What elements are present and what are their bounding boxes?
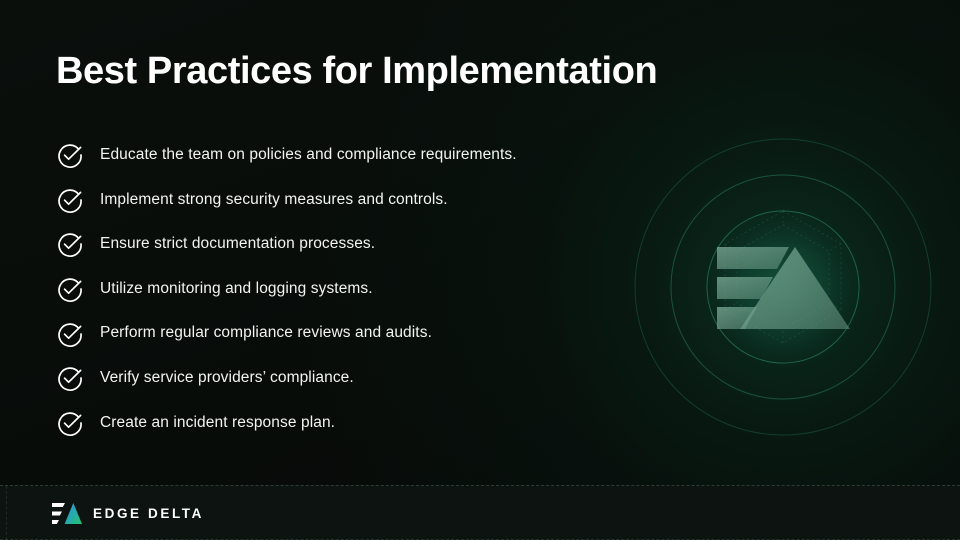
list-item: Educate the team on policies and complia… <box>56 133 656 178</box>
brand-name-label: EDGE DELTA <box>93 506 204 521</box>
footer-left-rule <box>6 486 7 540</box>
check-circle-icon <box>56 275 84 303</box>
list-item-label: Implement strong security measures and c… <box>100 191 448 210</box>
list-item-label: Create an incident response plan. <box>100 414 335 433</box>
list-item-label: Utilize monitoring and logging systems. <box>100 280 373 299</box>
list-item: Utilize monitoring and logging systems. <box>56 267 656 312</box>
check-circle-icon <box>56 409 84 437</box>
check-circle-icon <box>56 186 84 214</box>
list-item: Implement strong security measures and c… <box>56 178 656 223</box>
edge-delta-logo-mark-icon <box>52 503 82 524</box>
slide-footer: EDGE DELTA <box>0 485 960 540</box>
list-item: Ensure strict documentation processes. <box>56 222 656 267</box>
page-title: Best Practices for Implementation <box>56 50 657 94</box>
edge-delta-watermark <box>633 137 933 437</box>
list-item-label: Ensure strict documentation processes. <box>100 235 375 254</box>
list-item: Create an incident response plan. <box>56 401 656 446</box>
list-item: Verify service providers’ compliance. <box>56 356 656 401</box>
edge-delta-brand: EDGE DELTA <box>52 486 204 540</box>
check-circle-icon <box>56 230 84 258</box>
list-item-label: Verify service providers’ compliance. <box>100 369 354 388</box>
slide-canvas: Best Practices for Implementation Educat… <box>0 0 960 540</box>
list-item: Perform regular compliance reviews and a… <box>56 311 656 356</box>
list-item-label: Educate the team on policies and complia… <box>100 146 517 165</box>
check-circle-icon <box>56 364 84 392</box>
check-circle-icon <box>56 141 84 169</box>
best-practices-list: Educate the team on policies and complia… <box>56 133 656 445</box>
check-circle-icon <box>56 320 84 348</box>
list-item-label: Perform regular compliance reviews and a… <box>100 324 432 343</box>
